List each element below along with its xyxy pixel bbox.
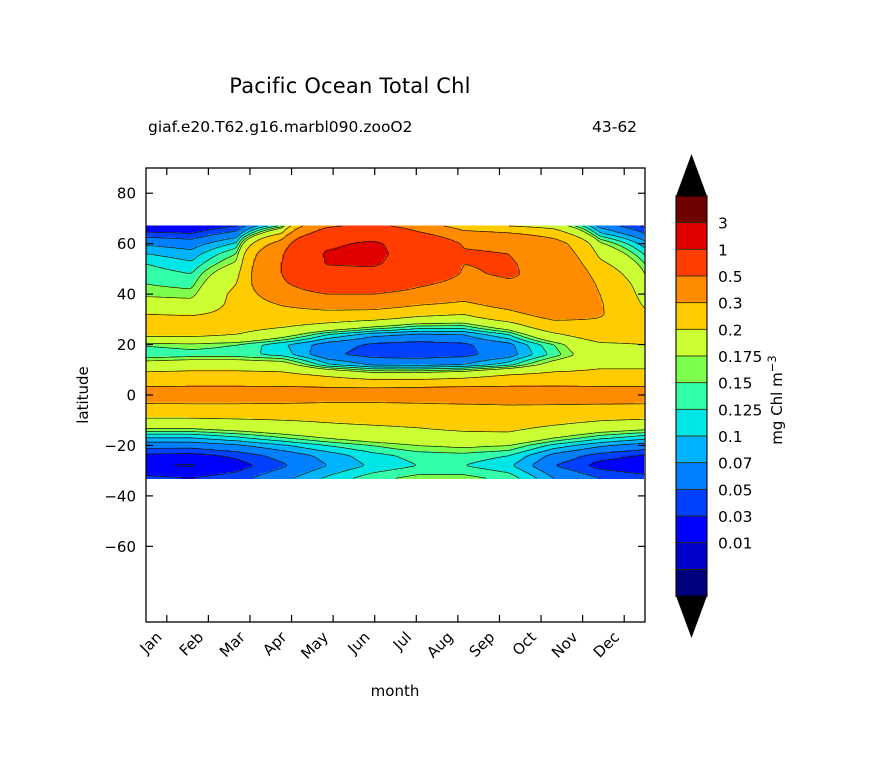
colorbar-swatch bbox=[676, 436, 707, 463]
colorbar-swatch bbox=[676, 463, 707, 490]
colorbar-label-main: mg Chl m bbox=[768, 372, 786, 444]
colorbar-swatch bbox=[676, 249, 707, 276]
colorbar-swatch bbox=[676, 543, 707, 570]
y-tick-label: −60 bbox=[104, 538, 136, 556]
x-tick-label-mar: Mar bbox=[216, 628, 249, 661]
colorbar-swatch bbox=[676, 516, 707, 543]
colorbar-tick-label: 0.15 bbox=[718, 375, 753, 393]
contour-field bbox=[145, 225, 644, 478]
colorbar-swatch bbox=[676, 489, 707, 516]
x-tick-label-nov: Nov bbox=[548, 628, 582, 662]
x-tick-label-sep: Sep bbox=[466, 628, 499, 661]
colorbar-swatch bbox=[676, 356, 707, 383]
y-tick-label: 0 bbox=[126, 387, 136, 405]
colorbar-swatch bbox=[676, 409, 707, 436]
x-tick-label-feb: Feb bbox=[176, 628, 208, 660]
contour-figure: 806040200−20−40−60 JanFebMarAprMayJunJul… bbox=[0, 0, 876, 783]
x-tick-label-oct: Oct bbox=[509, 628, 540, 659]
colorbar-tick-label: 3 bbox=[718, 215, 728, 233]
colorbar-tick-label: 0.01 bbox=[718, 535, 753, 553]
colorbar-label: mg Chl m−3 bbox=[765, 355, 786, 444]
colorbar-swatch bbox=[676, 569, 707, 596]
colorbar-tick-label: 0.03 bbox=[718, 508, 753, 526]
colorbar-swatch bbox=[676, 196, 707, 223]
colorbar-tick-label: 0.07 bbox=[718, 455, 753, 473]
x-tick-label-apr: Apr bbox=[259, 628, 291, 660]
x-tick-label-may: May bbox=[297, 628, 332, 663]
x-tick-label-jun: Jun bbox=[344, 628, 374, 658]
colorbar-tick-label: 0.3 bbox=[718, 295, 743, 313]
x-axis-label: month bbox=[371, 682, 420, 700]
colorbar-tick-label: 0.125 bbox=[718, 401, 762, 419]
colorbar-tick-label: 0.1 bbox=[718, 428, 743, 446]
colorbar-tick-label: 1 bbox=[718, 241, 728, 259]
colorbar-swatch bbox=[676, 276, 707, 303]
colorbar-tick-label: 0.5 bbox=[718, 268, 743, 286]
colorbar-tick-label: 0.2 bbox=[718, 321, 743, 339]
y-tick-label: −40 bbox=[104, 487, 136, 505]
colorbar-tick-label: 0.05 bbox=[718, 481, 753, 499]
y-tick-label: 20 bbox=[117, 336, 136, 354]
x-tick-label-dec: Dec bbox=[590, 628, 623, 661]
colorbar-swatch bbox=[676, 223, 707, 250]
colorbar-tick-label: 0.175 bbox=[718, 348, 762, 366]
colorbar-label-exponent: −3 bbox=[765, 355, 779, 372]
y-tick-label: −20 bbox=[104, 437, 136, 455]
colorbar-over-arrow bbox=[676, 154, 707, 196]
x-tick-label-aug: Aug bbox=[423, 628, 456, 661]
y-tick-label: 80 bbox=[117, 185, 136, 203]
y-tick-label: 60 bbox=[117, 235, 136, 253]
y-axis-label: latitude bbox=[74, 366, 92, 424]
x-tick-label-jan: Jan bbox=[136, 628, 166, 658]
colorbar-swatch bbox=[676, 303, 707, 330]
colorbar-under-arrow bbox=[676, 596, 707, 638]
colorbar-swatch bbox=[676, 383, 707, 410]
y-tick-label: 40 bbox=[117, 286, 136, 304]
colorbar-swatch bbox=[676, 329, 707, 356]
x-tick-label-jul: Jul bbox=[389, 628, 415, 654]
colorbar: 310.50.30.20.1750.150.1250.10.070.050.03… bbox=[676, 154, 762, 638]
